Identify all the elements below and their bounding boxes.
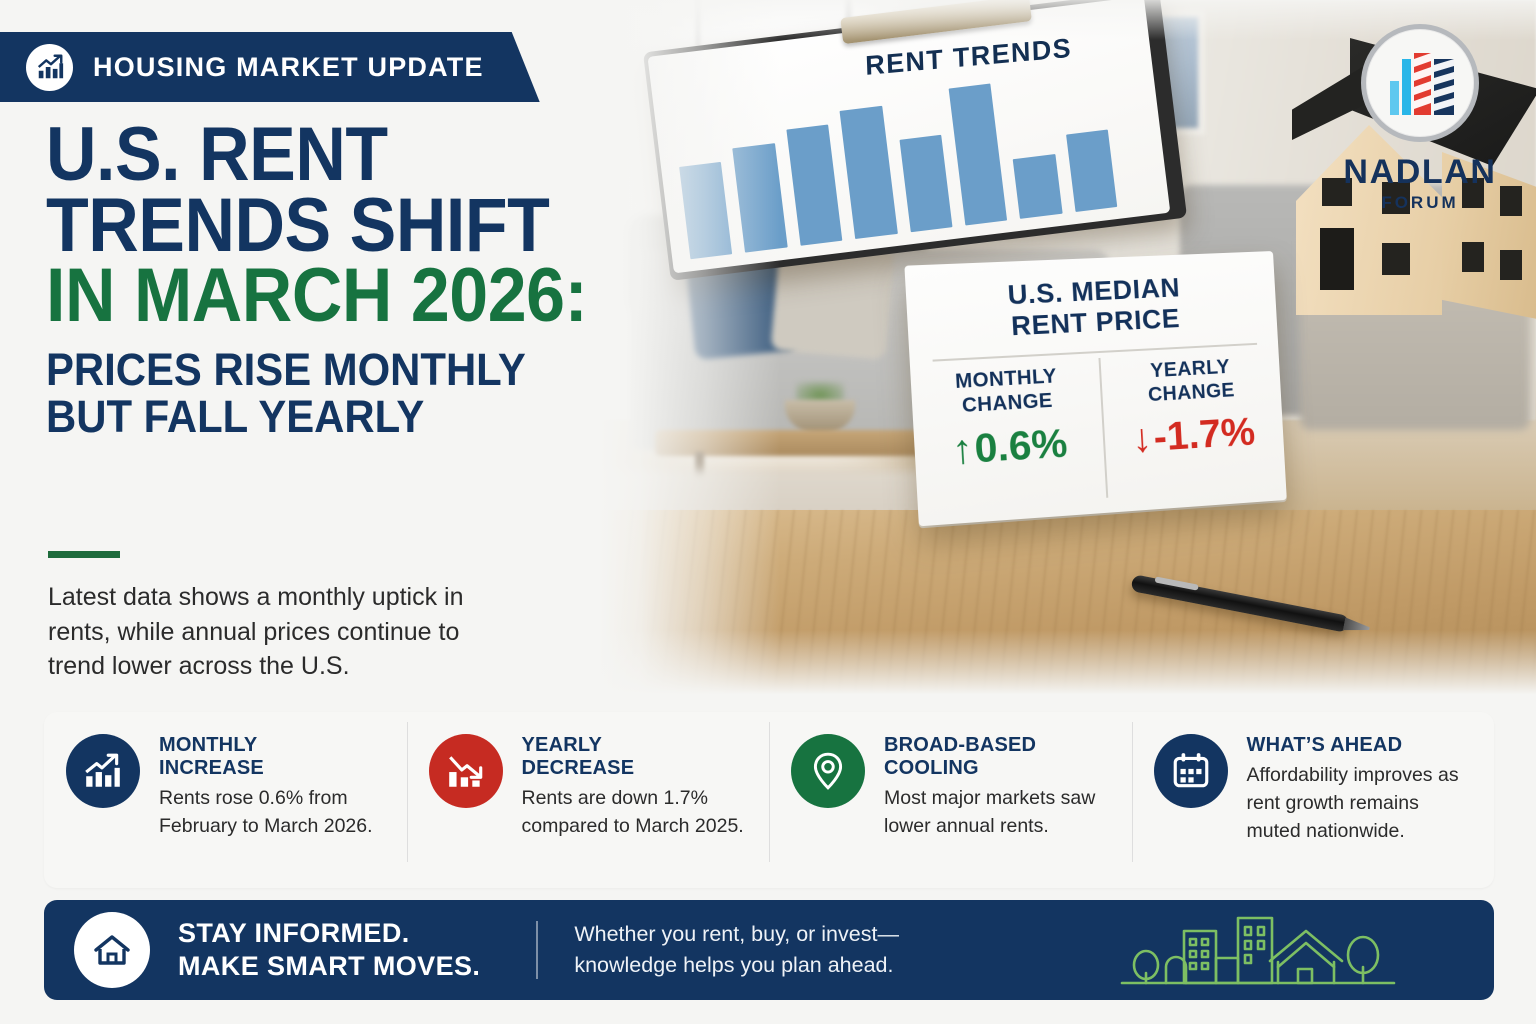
stat-card-yearly-decrease: YEARLY DECREASE Rents are down 1.7% comp… xyxy=(407,712,770,841)
stat-title: WHAT’S AHEAD xyxy=(1247,734,1477,757)
house-window xyxy=(1500,250,1522,280)
stat-card-whats-ahead: WHAT’S AHEAD Affordability improves as r… xyxy=(1132,712,1495,845)
stat-description: Rents are down 1.7% compared to March 20… xyxy=(522,785,752,840)
deck-paragraph: Latest data shows a monthly uptick in re… xyxy=(48,580,508,684)
sign-yearly-label-line2: CHANGE xyxy=(1147,379,1235,406)
sign-yearly-label: YEARLY CHANGE xyxy=(1099,353,1282,410)
sign-monthly-value-group: ↑ 0.6% xyxy=(914,421,1105,473)
infographic-canvas: RENT TRENDS xyxy=(0,0,1536,1024)
stat-body: WHAT’S AHEAD Affordability improves as r… xyxy=(1247,734,1477,845)
stat-card-broad-based-cooling: BROAD-BASED COOLING Most major markets s… xyxy=(769,712,1132,841)
stat-title: BROAD-BASED COOLING xyxy=(884,734,1114,780)
rent-price-sign: U.S. MEDIAN RENT PRICE MONTHLY CHANGE ↑ … xyxy=(904,251,1286,526)
sign-yearly-column: YEARLY CHANGE ↓ -1.7% xyxy=(1099,353,1284,461)
accent-rule xyxy=(48,551,120,558)
stat-description: Rents rose 0.6% from February to March 2… xyxy=(159,785,389,840)
map-pin-icon xyxy=(791,734,865,808)
sign-monthly-label: MONTHLY CHANGE xyxy=(910,362,1101,421)
footer-headline-line2: MAKE SMART MOVES. xyxy=(178,951,480,981)
logo-name: NADLAN xyxy=(1334,153,1506,192)
sign-yearly-label-line1: YEARLY xyxy=(1150,356,1231,382)
arrow-down-icon: ↓ xyxy=(1131,418,1153,459)
stat-description: Affordability improves as rent growth re… xyxy=(1247,762,1477,845)
footer-text-line2: knowledge helps you plan ahead. xyxy=(574,953,893,977)
calendar-icon xyxy=(1154,734,1228,808)
sign-title: U.S. MEDIAN RENT PRICE xyxy=(905,269,1277,347)
stat-title-line1: WHAT’S AHEAD xyxy=(1247,734,1403,756)
sign-yearly-value: -1.7% xyxy=(1153,412,1256,458)
logo-building-icon xyxy=(1366,29,1474,137)
arrow-up-icon: ↑ xyxy=(951,429,974,471)
sign-monthly-value: 0.6% xyxy=(974,423,1069,469)
photo-bottom-fade xyxy=(600,630,1536,700)
headline-line-3: IN MARCH 2026: xyxy=(46,261,598,332)
sign-monthly-label-line1: MONTHLY xyxy=(955,365,1058,393)
home-icon xyxy=(74,912,150,988)
house-window xyxy=(1462,242,1484,272)
footer-divider xyxy=(536,921,538,979)
bar xyxy=(899,135,952,232)
logo-mark xyxy=(1361,24,1479,142)
stat-title: MONTHLY INCREASE xyxy=(159,734,389,780)
housing-market-update-badge: HOUSING MARKET UPDATE xyxy=(0,32,540,102)
bar xyxy=(786,125,842,246)
stat-title-line1: MONTHLY xyxy=(159,734,257,756)
logo-subtitle: FORUM xyxy=(1334,193,1506,213)
stat-title-line2: DECREASE xyxy=(522,757,635,779)
footer-cta: STAY INFORMED. MAKE SMART MOVES. Whether… xyxy=(44,900,1494,1000)
stat-card-monthly-increase: MONTHLY INCREASE Rents rose 0.6% from Fe… xyxy=(44,712,407,841)
nadlan-forum-logo: NADLAN FORUM xyxy=(1334,24,1506,213)
sign-monthly-label-line2: CHANGE xyxy=(961,390,1053,417)
footer-text-line1: Whether you rent, buy, or invest— xyxy=(574,922,899,946)
headline-subline-2: BUT FALL YEARLY xyxy=(46,393,604,440)
stat-description: Most major markets saw lower annual rent… xyxy=(884,785,1114,840)
bar xyxy=(1066,129,1118,212)
stat-body: BROAD-BASED COOLING Most major markets s… xyxy=(884,734,1114,841)
bar xyxy=(1013,154,1062,219)
sign-yearly-value-group: ↓ -1.7% xyxy=(1102,410,1284,461)
stat-title-line2: INCREASE xyxy=(159,757,264,779)
cityscape-line-icon xyxy=(1118,905,1398,996)
footer-text: Whether you rent, buy, or invest— knowle… xyxy=(574,919,899,980)
stat-title-line2: COOLING xyxy=(884,757,979,779)
footer-headline: STAY INFORMED. MAKE SMART MOVES. xyxy=(178,917,480,983)
stats-panel: MONTHLY INCREASE Rents rose 0.6% from Fe… xyxy=(44,712,1494,888)
chart-up-arrow-icon xyxy=(66,734,140,808)
footer-headline-line1: STAY INFORMED. xyxy=(178,918,410,948)
bar xyxy=(948,83,1007,225)
chart-down-arrow-icon xyxy=(429,734,503,808)
page-title: U.S. RENT TRENDS SHIFT IN MARCH 2026: PR… xyxy=(46,120,646,441)
bar-chart-growth-icon xyxy=(26,44,73,91)
stat-title: YEARLY DECREASE xyxy=(522,734,752,780)
headline-line-1: U.S. RENT xyxy=(46,120,598,191)
headline-line-2: TRENDS SHIFT xyxy=(46,191,598,262)
house-door xyxy=(1320,228,1354,290)
stat-body: MONTHLY INCREASE Rents rose 0.6% from Fe… xyxy=(159,734,389,841)
stat-title-line1: YEARLY xyxy=(522,734,603,756)
badge-label: HOUSING MARKET UPDATE xyxy=(93,52,484,83)
sign-title-line2: RENT PRICE xyxy=(1010,303,1180,341)
stat-body: YEARLY DECREASE Rents are down 1.7% comp… xyxy=(522,734,752,841)
bar xyxy=(840,106,898,239)
headline-subline-1: PRICES RISE MONTHLY xyxy=(46,346,604,393)
stat-title-line1: BROAD-BASED xyxy=(884,734,1036,756)
sign-monthly-column: MONTHLY CHANGE ↑ 0.6% xyxy=(910,362,1104,473)
house-window xyxy=(1382,243,1410,275)
